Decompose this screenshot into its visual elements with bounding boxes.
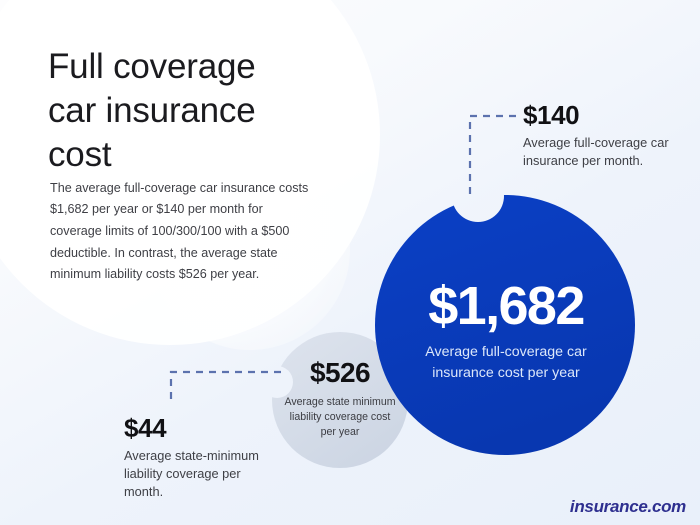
connector-line-full-coverage [470,116,516,200]
callout-description: Average full-coverage car insurance per … [523,134,673,170]
callout-monthly-state-minimum: $44 Average state-minimum liability cove… [124,413,264,501]
callout-monthly-full-coverage: $140 Average full-coverage car insurance… [523,100,673,170]
page-description: The average full-coverage car insurance … [50,178,318,286]
callout-description: Average state-minimum liability coverage… [124,447,264,501]
connector-line-state-minimum [171,372,281,404]
brand-logo[interactable]: insurance.com [570,497,686,517]
infographic-canvas: Full coverage car insurance cost The ave… [0,0,700,525]
callout-value: $140 [523,100,673,131]
callout-value: $44 [124,413,264,444]
page-title: Full coverage car insurance cost [48,45,338,176]
bubble-full-coverage [375,195,635,455]
